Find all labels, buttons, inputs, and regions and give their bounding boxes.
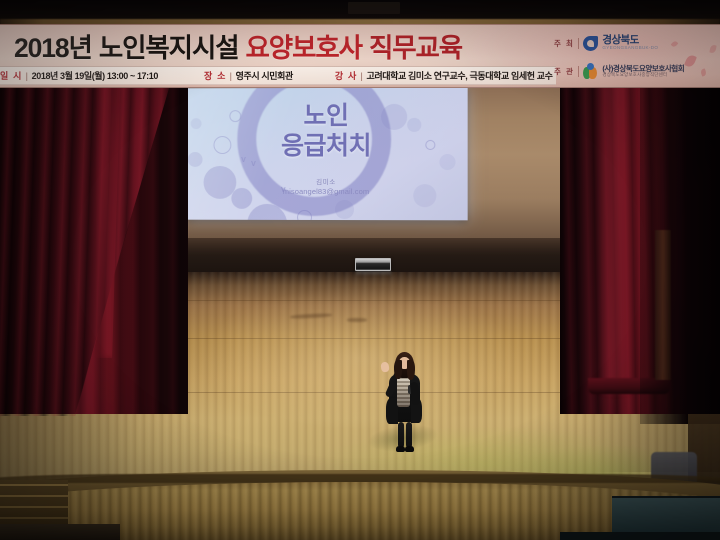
banner-info-lecturer: 강 사 | 고려대학교 김미소 연구교수, 극동대학교 임세헌 교수 (335, 69, 553, 82)
presenter-hair-strand (394, 360, 402, 379)
gyeongsangbuk-do-emblem-icon (583, 36, 598, 51)
slide-bubble (204, 166, 237, 199)
projection-screen: v v v 노인 응급처치 김미소 misoangel83@gmail.com (186, 88, 468, 221)
front-dark-band (560, 532, 720, 540)
slide-title-line1: 노인 (304, 102, 349, 130)
caregiver-association-emblem-icon (583, 63, 598, 79)
presenter-figure (378, 348, 430, 466)
presenter-leg (406, 422, 412, 448)
slide-author: 김미소 (186, 176, 468, 186)
banner-organizer-row: 주 관 (사)경상북도요양보호사협회 경상북도요양보호사중앙직단센터 (554, 59, 716, 84)
presenter-shoe (396, 446, 405, 452)
stage-wing-post (655, 230, 671, 380)
presenter-waving-hand (380, 361, 389, 372)
front-floor-shadow (0, 524, 120, 540)
banner-organizer-text: (사)경상북도요양보호사협회 경상북도요양보호사중앙직단센터 (602, 65, 684, 78)
banner-host-label: 주 최 (554, 38, 574, 49)
slide-bubble (407, 118, 421, 132)
floor-monitor-reflection (356, 271, 391, 276)
auditorium-photo: v v v 노인 응급처치 김미소 misoangel83@gmail.com (0, 0, 720, 540)
floor-scuff (347, 318, 367, 322)
banner-logo-block: 주 최 경상북도 GYEONGSANGBUK-DO 주 관 (사)경상북도요양보… (554, 26, 716, 88)
banner-title-subject: 직무교육 (369, 26, 462, 65)
slide-bubble-outline (213, 136, 231, 154)
slide-email: misoangel83@gmail.com (186, 187, 468, 196)
banner-info-place: 장 소 | 영주시 시민회관 (204, 69, 293, 82)
slide-bubble (335, 200, 354, 219)
stage-curtain-right-highlight (598, 40, 632, 390)
banner-info-date-value: 2018년 3월 19일(월) 13:00 ~ 17:10 (32, 69, 158, 82)
slide-bubble (188, 152, 203, 167)
slide-tick-mark: v (281, 184, 285, 194)
slide-bubble-outline (297, 210, 312, 220)
ceiling-fixture (348, 2, 400, 14)
floor-monitor-right (355, 258, 391, 271)
banner-title: 2018년 노인복지시설 요양보호사 직무교육 (14, 28, 544, 62)
banner-info-place-label: 장 소 (204, 69, 227, 82)
slide-title: 노인 응급처치 (186, 102, 468, 161)
banner-title-role: 요양보호사 (246, 26, 362, 65)
banner-logo-separator (578, 38, 579, 49)
banner-organizer-sub: 경상북도요양보호사중앙직단센터 (602, 73, 684, 78)
slide-bubble (413, 184, 436, 207)
banner-info-place-value: 영주시 시민회관 (236, 69, 293, 82)
slide-bubble-outline (229, 110, 241, 122)
banner-info-lecturer-value: 고려대학교 김미소 연구교수, 극동대학교 임세헌 교수 (367, 69, 553, 82)
slide-bubble (191, 118, 202, 129)
slide-title-line2: 응급처치 (186, 131, 468, 161)
presenter-leg (398, 422, 404, 448)
banner-info-line: 일 시 | 2018년 3월 19일(월) 13:00 ~ 17:10 장 소 … (0, 66, 556, 85)
stage-side-step (0, 480, 68, 528)
presenter-hair-strand (407, 360, 415, 380)
banner-info-date: 일 시 | 2018년 3월 19일(월) 13:00 ~ 17:10 (0, 69, 158, 82)
slide-ring-graphic (237, 88, 391, 216)
banner-info-date-label: 일 시 (0, 69, 23, 82)
banner-host-name-roman: GYEONGSANGBUK-DO (602, 46, 658, 51)
slide-tick-mark: v (251, 158, 255, 168)
banner-host-text: 경상북도 GYEONGSANGBUK-DO (602, 35, 658, 51)
slide-bubble (381, 104, 407, 130)
banner-info-separator: | (26, 71, 28, 81)
banner-info-separator: | (230, 71, 232, 81)
banner-host-row: 주 최 경상북도 GYEONGSANGBUK-DO (554, 31, 716, 56)
banner-info-separator: | (361, 71, 363, 81)
slide-bubble-outline (425, 140, 435, 150)
banner-logo-separator (578, 66, 579, 77)
banner-info-lecturer-label: 강 사 (335, 69, 358, 82)
banner-title-year: 2018년 (14, 26, 92, 65)
slide-bubble (247, 204, 287, 220)
slide-bubble (231, 188, 252, 209)
presenter-shoe (405, 446, 414, 452)
slide-bubble (439, 154, 455, 170)
banner-title-facility: 노인복지시설 (99, 26, 239, 65)
slide-tick-mark: v (241, 154, 245, 164)
event-banner: 2018년 노인복지시설 요양보호사 직무교육 일 시 | 2018년 3월 1… (0, 24, 720, 88)
banner-organizer-label: 주 관 (554, 66, 574, 77)
